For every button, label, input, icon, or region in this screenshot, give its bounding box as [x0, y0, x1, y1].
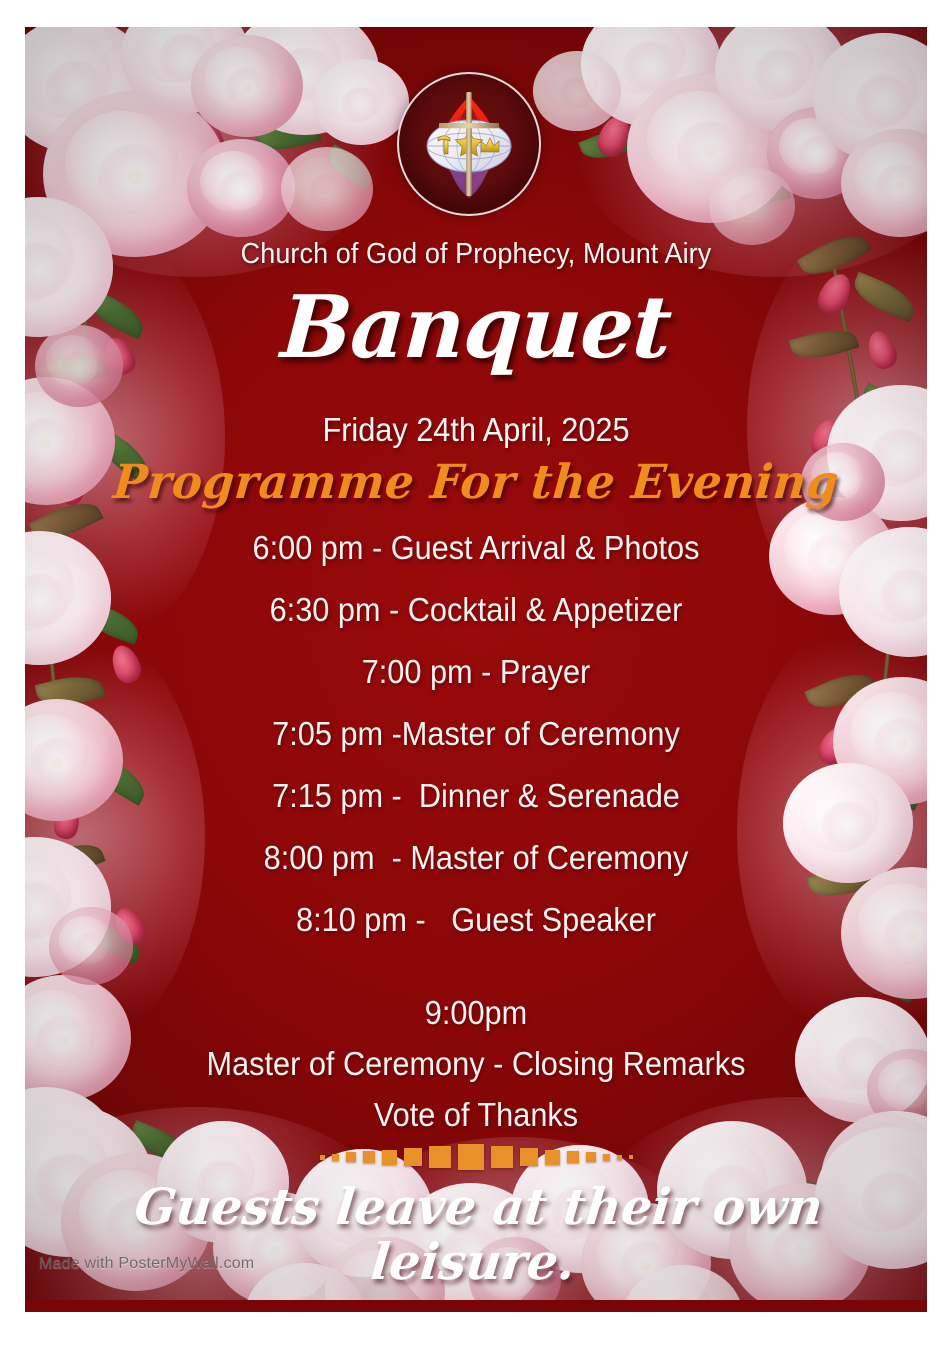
event-title: Banquet — [36, 285, 917, 371]
schedule-list: 6:00 pm - Guest Arrival & Photos 6:30 pm… — [25, 517, 927, 951]
organization-name: Church of God of Prophecy, Mount Airy — [57, 238, 896, 271]
divider-square — [629, 1155, 633, 1159]
schedule-item: 6:00 pm - Guest Arrival & Photos — [57, 517, 896, 579]
schedule-item: 7:00 pm - Prayer — [57, 641, 896, 703]
divider-square — [404, 1148, 422, 1166]
closing-remarks: Master of Ceremony - Closing Remarks — [57, 1038, 896, 1089]
divider-square — [520, 1148, 538, 1166]
divider-square — [586, 1152, 596, 1162]
vote-of-thanks: Vote of Thanks — [57, 1089, 896, 1140]
church-of-god-of-prophecy-emblem — [399, 74, 539, 214]
divider-square — [363, 1151, 375, 1163]
divider-square — [603, 1154, 610, 1161]
church-logo — [397, 72, 541, 216]
divider-square — [545, 1150, 560, 1165]
page-canvas: Church of God of Prophecy, Mount Airy Ba… — [0, 0, 952, 1347]
closing-time: 9:00pm — [57, 987, 896, 1038]
poster-bottom-bar — [25, 1300, 927, 1312]
postermywall-watermark: Made with PosterMyWall.com — [39, 1255, 254, 1273]
schedule-item: 6:30 pm - Cocktail & Appetizer — [57, 579, 896, 641]
divider-square — [320, 1155, 325, 1160]
poster: Church of God of Prophecy, Mount Airy Ba… — [25, 27, 927, 1312]
schedule-item: 7:05 pm -Master of Ceremony — [57, 703, 896, 765]
schedule-item: 8:00 pm - Master of Ceremony — [57, 827, 896, 889]
divider-square — [458, 1144, 484, 1170]
divider-square — [346, 1152, 356, 1162]
schedule-item: 7:15 pm - Dinner & Serenade — [57, 765, 896, 827]
square-divider-ornament — [25, 1142, 927, 1172]
schedule-item: 8:10 pm - Guest Speaker — [57, 889, 896, 951]
event-date: Friday 24th April, 2025 — [57, 411, 896, 449]
divider-square — [332, 1154, 339, 1161]
divider-square — [382, 1150, 397, 1165]
divider-square — [429, 1146, 451, 1168]
divider-square — [617, 1155, 622, 1160]
divider-square — [491, 1146, 513, 1168]
divider-square — [567, 1151, 579, 1163]
closing-block: 9:00pm Master of Ceremony - Closing Rema… — [25, 987, 927, 1140]
programme-heading: Programme For the Evening — [41, 459, 911, 506]
